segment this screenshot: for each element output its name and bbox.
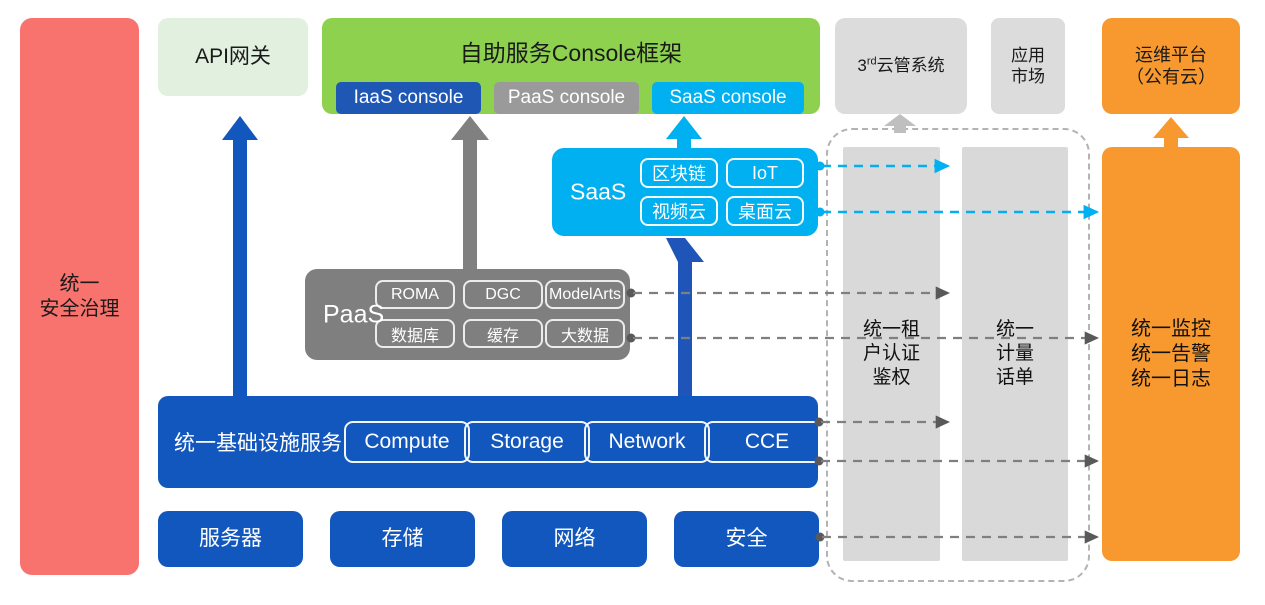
resource-box-security-label: 安全 bbox=[726, 526, 768, 552]
paas-item-database[interactable]: 数据库 bbox=[375, 319, 455, 348]
unified-monitoring-panel[interactable]: 统一监控 统一告警 统一日志 bbox=[1102, 147, 1240, 561]
infra-item-compute[interactable]: Compute bbox=[344, 421, 470, 463]
unified-tenant-auth-line1: 统一租 bbox=[863, 318, 920, 342]
saas-item-video-cloud[interactable]: 视频云 bbox=[640, 196, 718, 226]
resource-box-storage[interactable]: 存储 bbox=[330, 511, 475, 567]
app-market-line2: 市场 bbox=[1011, 66, 1045, 87]
unified-monitoring-line1: 统一监控 bbox=[1131, 317, 1211, 342]
saas-layer-label: SaaS bbox=[570, 179, 626, 206]
saas-item-iot-label: IoT bbox=[752, 163, 778, 184]
unified-metering-line1: 统一 bbox=[996, 318, 1034, 342]
unified-metering-line3: 话单 bbox=[996, 366, 1034, 390]
resource-box-server[interactable]: 服务器 bbox=[158, 511, 303, 567]
security-governance-line2: 安全治理 bbox=[40, 297, 120, 322]
unified-metering-line2: 计量 bbox=[996, 342, 1034, 366]
third-party-superscript: rd bbox=[867, 56, 877, 68]
saas-item-iot[interactable]: IoT bbox=[726, 158, 804, 188]
ops-platform-line2: （公有云） bbox=[1126, 66, 1216, 89]
saas-item-desktop-cloud-label: 桌面云 bbox=[738, 198, 792, 224]
infra-item-network-label: Network bbox=[608, 430, 685, 454]
ops-platform-line1: 运维平台 bbox=[1126, 44, 1216, 67]
resource-box-server-label: 服务器 bbox=[199, 526, 262, 552]
infra-item-storage-label: Storage bbox=[490, 430, 564, 454]
resource-box-security[interactable]: 安全 bbox=[674, 511, 819, 567]
architecture-diagram: 统一 安全治理 API网关 自助服务Console框架 IaaS console… bbox=[0, 0, 1265, 605]
infra-item-compute-label: Compute bbox=[364, 430, 449, 454]
iaas-console-label: IaaS console bbox=[354, 87, 464, 109]
saas-item-video-cloud-label: 视频云 bbox=[652, 198, 706, 224]
arrow-infra-to-api-gateway bbox=[222, 116, 258, 396]
api-gateway-box[interactable]: API网关 bbox=[158, 18, 308, 96]
paas-item-modelarts-label: ModelArts bbox=[549, 286, 621, 304]
arrow-infra-to-saas bbox=[666, 238, 704, 396]
paas-item-dgc-label: DGC bbox=[485, 286, 521, 304]
arrow-paas-to-console bbox=[451, 116, 489, 269]
resource-box-network[interactable]: 网络 bbox=[502, 511, 647, 567]
infra-item-network[interactable]: Network bbox=[584, 421, 710, 463]
arrow-ops-column-to-ops-platform bbox=[1153, 117, 1189, 147]
unified-infrastructure-layer: 统一基础设施服务 Compute Storage Network CCE bbox=[158, 396, 818, 488]
paas-console-chip[interactable]: PaaS console bbox=[494, 82, 639, 114]
saas-item-blockchain-label: 区块链 bbox=[652, 160, 706, 186]
paas-item-cache-label: 缓存 bbox=[487, 322, 519, 346]
security-governance-panel: 统一 安全治理 bbox=[20, 18, 139, 575]
paas-item-bigdata[interactable]: 大数据 bbox=[545, 319, 625, 348]
paas-item-bigdata-label: 大数据 bbox=[561, 322, 609, 346]
paas-item-roma-label: ROMA bbox=[391, 286, 439, 304]
unified-monitoring-line2: 统一告警 bbox=[1131, 342, 1211, 367]
infra-item-storage[interactable]: Storage bbox=[464, 421, 590, 463]
saas-item-desktop-cloud[interactable]: 桌面云 bbox=[726, 196, 804, 226]
saas-console-chip[interactable]: SaaS console bbox=[652, 82, 804, 114]
saas-item-blockchain[interactable]: 区块链 bbox=[640, 158, 718, 188]
paas-item-roma[interactable]: ROMA bbox=[375, 280, 455, 309]
infra-item-cce[interactable]: CCE bbox=[704, 421, 830, 463]
console-frame-title: 自助服务Console框架 bbox=[322, 34, 820, 68]
unified-tenant-auth-line3: 鉴权 bbox=[863, 366, 920, 390]
saas-layer: SaaS 区块链 IoT 视频云 桌面云 bbox=[552, 148, 818, 236]
security-governance-line1: 统一 bbox=[40, 272, 120, 297]
unified-monitoring-line3: 统一日志 bbox=[1131, 367, 1211, 392]
unified-infrastructure-label: 统一基础设施服务 bbox=[174, 427, 342, 457]
paas-item-dgc[interactable]: DGC bbox=[463, 280, 543, 309]
third-party-cloud-mgmt-box[interactable]: 3rd云管系统 bbox=[835, 18, 967, 114]
arrow-saas-to-console bbox=[666, 116, 702, 148]
self-service-console-frame: 自助服务Console框架 IaaS console PaaS console … bbox=[322, 18, 820, 114]
third-party-cloud-mgmt-label: 3rd云管系统 bbox=[857, 55, 944, 76]
iaas-console-chip[interactable]: IaaS console bbox=[336, 82, 481, 114]
unified-tenant-auth-line2: 户认证 bbox=[863, 342, 920, 366]
infra-item-cce-label: CCE bbox=[745, 430, 789, 454]
resource-box-storage-label: 存储 bbox=[382, 526, 424, 552]
paas-item-modelarts[interactable]: ModelArts bbox=[545, 280, 625, 309]
api-gateway-label: API网关 bbox=[195, 44, 271, 70]
resource-box-network-label: 网络 bbox=[554, 526, 596, 552]
app-market-line1: 应用 bbox=[1011, 45, 1045, 66]
paas-console-label: PaaS console bbox=[508, 87, 625, 109]
app-market-box[interactable]: 应用 市场 bbox=[991, 18, 1065, 114]
unified-tenant-auth-column[interactable]: 统一租 户认证 鉴权 bbox=[843, 147, 940, 561]
saas-console-label: SaaS console bbox=[669, 87, 786, 109]
paas-item-cache[interactable]: 缓存 bbox=[463, 319, 543, 348]
unified-metering-column[interactable]: 统一 计量 话单 bbox=[962, 147, 1068, 561]
paas-layer: PaaS ROMA DGC ModelArts 数据库 缓存 大数据 bbox=[305, 269, 630, 360]
ops-platform-public-cloud-box[interactable]: 运维平台 （公有云） bbox=[1102, 18, 1240, 114]
paas-item-database-label: 数据库 bbox=[391, 322, 439, 346]
